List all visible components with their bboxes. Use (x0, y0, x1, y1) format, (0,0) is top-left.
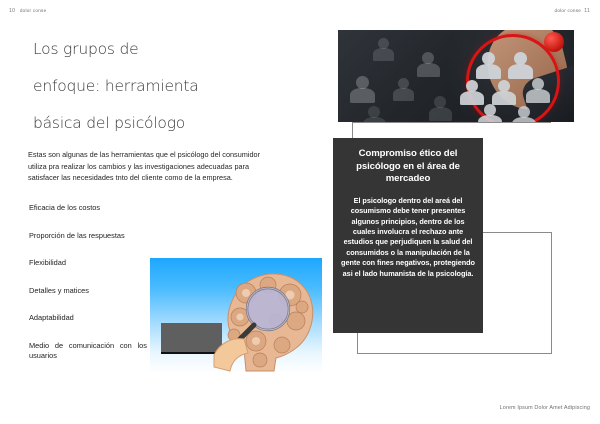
page-title-line-2: enfoque: herramienta (33, 68, 293, 105)
header-right: dolor conse 11 (555, 8, 590, 14)
people-targeting-photo (338, 30, 574, 122)
page-title-line-3: básica del psicólogo (33, 105, 293, 142)
list-item: Medio de comunicación con los usuarios (29, 341, 147, 362)
page-title-line-1: Los grupos de (33, 31, 293, 68)
gear-head-illustration (210, 263, 318, 373)
page-footer: Lorem Ipsum Dolor Amet Adipiscing (500, 405, 590, 411)
page-number-left: 10 (9, 8, 15, 14)
header-right-label: dolor conse (555, 8, 582, 13)
document-page: 10 dolor conse dolor conse 11 Los grupos… (0, 0, 600, 424)
callout-body: El psicologo dentro del areá del cosumis… (340, 196, 476, 279)
page-title: Los grupos de enfoque: herramienta básic… (33, 31, 293, 142)
callout-heading: Compromiso ético del psicólogo en el áre… (340, 148, 476, 186)
page-number-right: 11 (584, 8, 590, 14)
gear-head-image (150, 258, 322, 373)
list-item: Eficacia de los costos (29, 203, 199, 213)
list-item: Proporción de las respuestas (29, 231, 199, 241)
red-marker-tip-icon (544, 32, 564, 52)
intro-paragraph: Estas son algunas de las herramientas qu… (28, 149, 280, 184)
header-left-label: dolor conse (20, 8, 47, 13)
ethics-callout-box: Compromiso ético del psicólogo en el áre… (333, 138, 483, 333)
header-left: 10 dolor conse (9, 8, 46, 14)
